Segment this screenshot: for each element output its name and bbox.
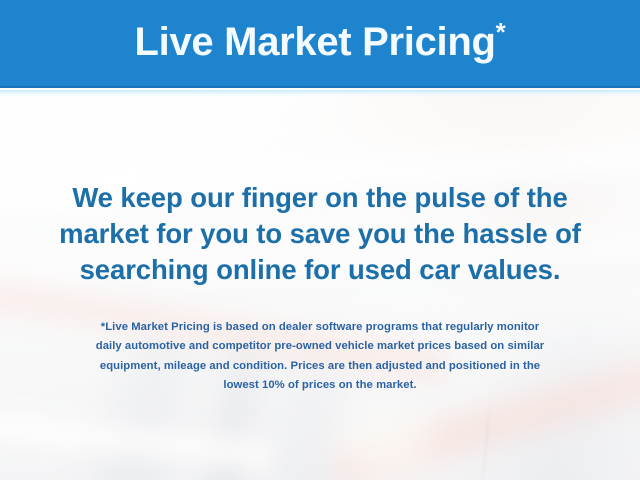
headline-line-3: searching online for used car values. — [28, 252, 612, 288]
page-title-text: Live Market Pricing — [135, 20, 496, 64]
disclaimer-line-4: lowest 10% of prices on the market. — [28, 376, 612, 395]
headline-line-1: We keep our finger on the pulse of the — [28, 180, 612, 216]
disclaimer-line-2: daily automotive and competitor pre-owne… — [28, 337, 612, 356]
page-title: Live Market Pricing* — [135, 22, 506, 64]
header-underglow — [0, 90, 640, 97]
disclaimer-line-3: equipment, mileage and condition. Prices… — [28, 357, 612, 376]
headline-block: We keep our finger on the pulse of the m… — [28, 180, 612, 288]
headline-line-2: market for you to save you the hassle of — [28, 216, 612, 252]
page-title-footnote-marker: * — [496, 17, 506, 47]
marketing-slide: Live Market Pricing* We keep our finger … — [0, 0, 640, 480]
disclaimer-line-1: *Live Market Pricing is based on dealer … — [28, 318, 612, 337]
disclaimer-block: *Live Market Pricing is based on dealer … — [28, 318, 612, 396]
header-banner: Live Market Pricing* — [0, 0, 640, 88]
